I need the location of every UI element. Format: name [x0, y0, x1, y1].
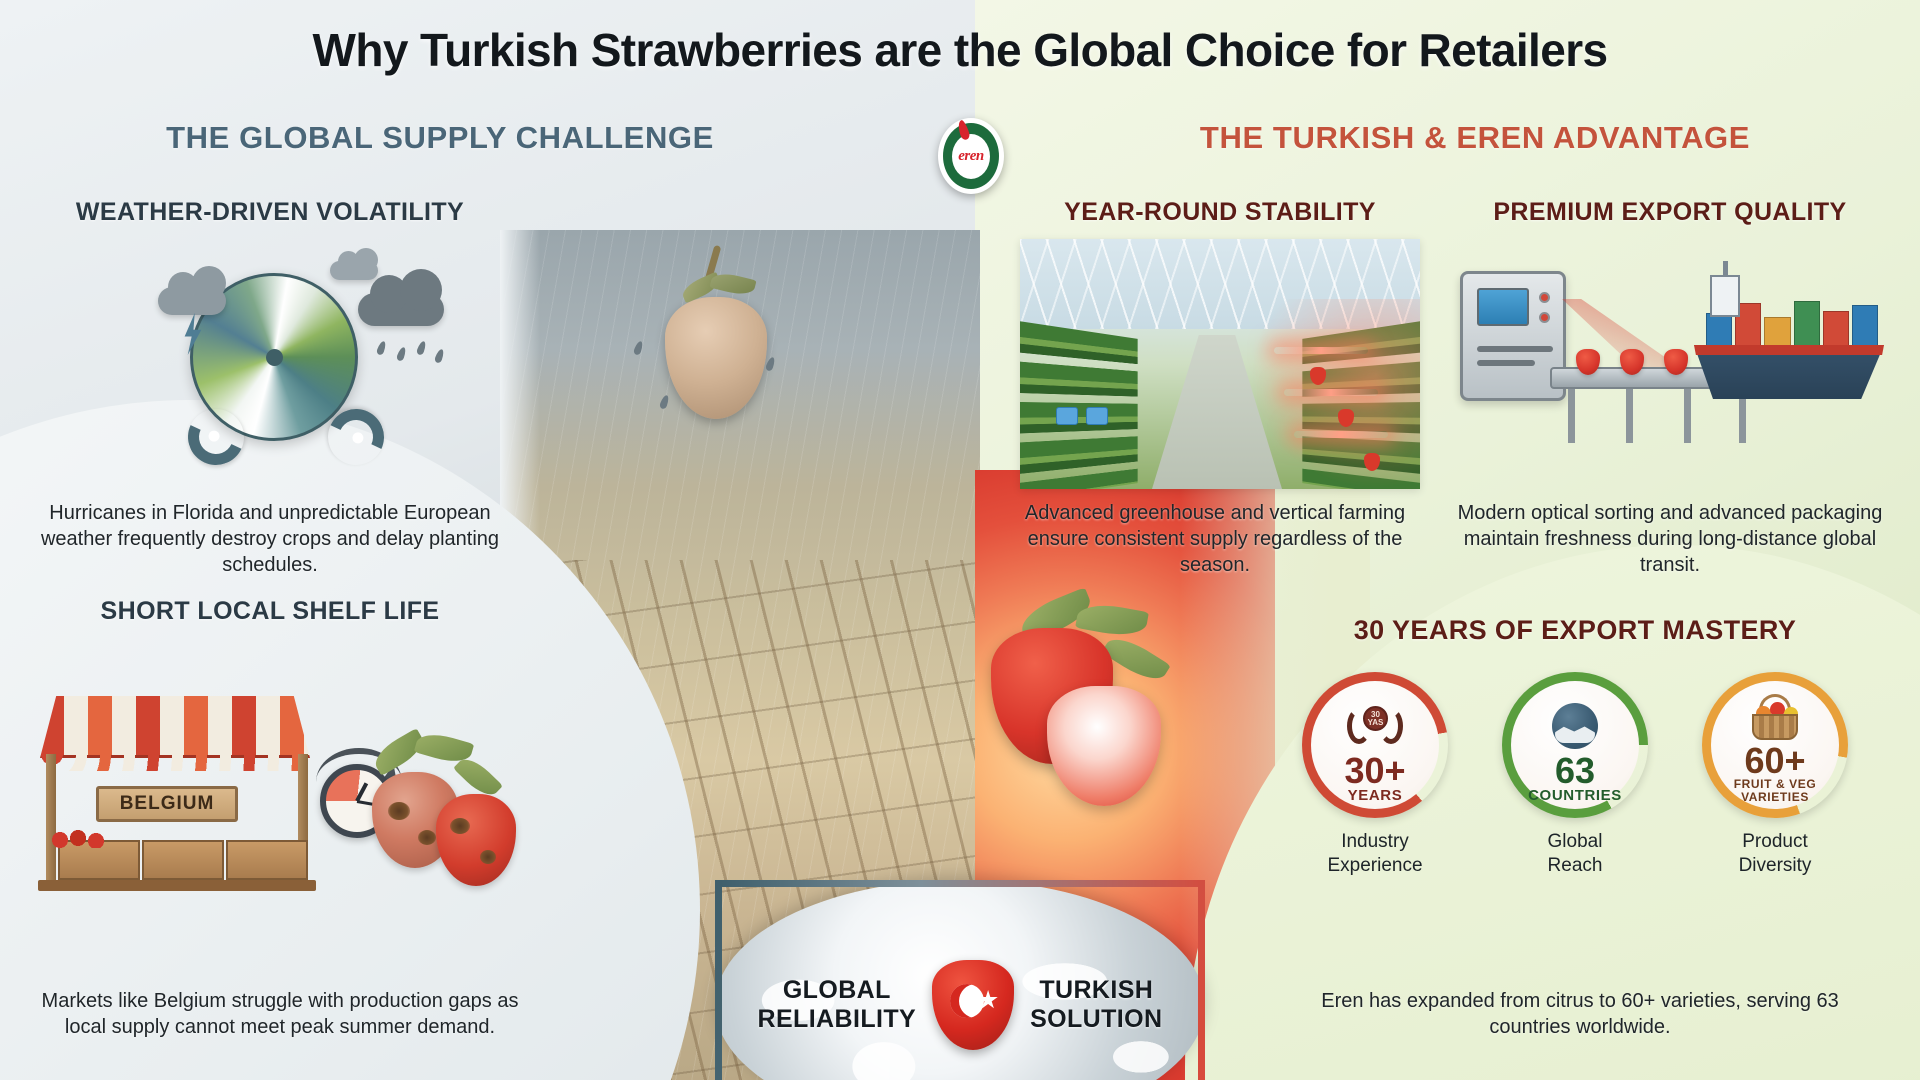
stat-unit-varieties: FRUIT & VEG VARIETIES	[1734, 778, 1817, 804]
logo-wordmark: eren	[958, 148, 984, 165]
rain-drop-icon	[434, 348, 445, 364]
premium-block-body: Modern optical sorting and advanced pack…	[1450, 500, 1890, 578]
stat-caption-years: Industry Experience	[1327, 830, 1422, 878]
ship-bridge-tower	[1710, 275, 1740, 317]
badge-right-line2: SOLUTION	[1030, 1005, 1162, 1034]
laurel-wreath-icon: 30 YAS	[1346, 703, 1404, 749]
stat-varieties: 60+ FRUIT & VEG VARIETIES Product Divers…	[1675, 672, 1875, 878]
rot-spot	[450, 818, 470, 834]
sorter-display-screen	[1477, 288, 1529, 326]
block-short-local-shelf-life: SHORT LOCAL SHELF LIFE BELGIUM	[20, 597, 520, 894]
badge-left-line2: RELIABILITY	[758, 1005, 917, 1034]
stat-value-countries: 63	[1555, 754, 1595, 788]
basket-body	[1752, 714, 1798, 740]
crescent-moon-icon	[950, 984, 984, 1018]
right-column-heading: THE TURKISH & EREN ADVANTAGE	[1035, 120, 1915, 156]
grow-lamp-icon	[1274, 347, 1368, 354]
stat-value-varieties: 60+	[1744, 744, 1805, 778]
sorter-knob	[1539, 312, 1550, 323]
stat-caption-varieties: Product Diversity	[1739, 830, 1812, 878]
shelf-block-body: Markets like Belgium struggle with produ…	[20, 988, 540, 1040]
sorter-knob	[1539, 292, 1550, 303]
stat-circles-row: 30 YAS 30+ YEARS Industry Experience	[1250, 672, 1900, 878]
sorter-slot	[1477, 360, 1535, 366]
shelf-illustration: BELGIUM	[20, 644, 520, 894]
anniversary-badge: 30 YAS	[1363, 706, 1388, 731]
stat-ring-years: 30 YAS 30+ YEARS	[1302, 672, 1448, 818]
stall-crate	[226, 840, 308, 880]
stat-caption-countries: Global Reach	[1548, 830, 1603, 878]
rot-spot	[418, 830, 436, 845]
badge-bottom-text: YAS	[1368, 719, 1384, 727]
small-cloud-icon	[330, 261, 378, 280]
stall-base	[38, 880, 316, 891]
grow-lamp-icon	[1294, 431, 1388, 438]
clock-hour-hand	[355, 782, 368, 802]
turkish-flag-strawberry-icon	[932, 960, 1014, 1050]
stat-caption-line2: Diversity	[1739, 854, 1812, 878]
logo-inner-circle: eren	[952, 134, 990, 179]
global-reliability-badge: GLOBAL RELIABILITY TURKISH SOLUTION	[715, 880, 1205, 1080]
rain-drop-icon	[396, 346, 407, 362]
vertical-farm-rack-icon	[1020, 321, 1138, 489]
premium-illustration	[1450, 241, 1890, 491]
rain-drop-icon	[376, 340, 387, 356]
year-block-title: YEAR-ROUND STABILITY	[1020, 198, 1420, 227]
mastery-summary: Eren has expanded from citrus to 60+ var…	[1280, 988, 1880, 1040]
page-title: Why Turkish Strawberries are the Global …	[313, 23, 1608, 77]
block-premium-export-quality: PREMIUM EXPORT QUALITY	[1450, 198, 1890, 491]
badge-left-line1: GLOBAL	[758, 976, 917, 1005]
stall-crate	[142, 840, 224, 880]
shelf-block-title: SHORT LOCAL SHELF LIFE	[20, 597, 520, 626]
globe-handshake-icon	[1544, 700, 1606, 752]
wilting-strawberry-icon	[655, 245, 775, 420]
sorter-slot	[1477, 346, 1553, 352]
spoiled-strawberry-icon	[436, 794, 516, 886]
rot-spot	[388, 802, 410, 820]
stat-unit-years: YEARS	[1348, 788, 1403, 804]
badge-left-label: GLOBAL RELIABILITY	[758, 976, 917, 1034]
hurricane-eye	[351, 431, 365, 445]
stat-caption-line1: Global	[1548, 830, 1603, 854]
greenhouse-icon	[1020, 239, 1420, 489]
globe-shape	[1552, 703, 1598, 749]
stat-unit-countries: COUNTRIES	[1528, 788, 1622, 804]
crate-strawberries-icon	[50, 830, 110, 848]
eren-logo[interactable]: eren	[938, 118, 1004, 194]
mastery-summary-wrap: Eren has expanded from citrus to 60+ var…	[1280, 988, 1880, 1040]
rain-cloud-icon	[358, 293, 444, 326]
fresh-strawberry-pair-icon	[985, 600, 1215, 820]
block-export-mastery: 30 YEARS OF EXPORT MASTERY 30 YAS	[1250, 615, 1900, 878]
basket-shape	[1746, 692, 1804, 740]
grow-lamp-icon	[1284, 389, 1378, 396]
left-column-heading: THE GLOBAL SUPPLY CHALLENGE	[0, 120, 880, 156]
block-weather-driven-volatility: WEATHER-DRIVEN VOLATILITY	[30, 198, 510, 471]
weather-block-body-wrap: Hurricanes in Florida and unpredictable …	[30, 500, 510, 578]
storm-eye	[266, 349, 283, 366]
stall-post-left	[46, 754, 56, 886]
logo-leaf-icon	[956, 119, 971, 141]
premium-block-title: PREMIUM EXPORT QUALITY	[1450, 198, 1890, 227]
stall-sign: BELGIUM	[96, 786, 238, 822]
stat-caption-line1: Product	[1739, 830, 1812, 854]
stat-value-years: 30+	[1344, 754, 1405, 788]
stat-countries: 63 COUNTRIES Global Reach	[1475, 672, 1675, 878]
stat-caption-line2: Experience	[1327, 854, 1422, 878]
weather-block-title: WEATHER-DRIVEN VOLATILITY	[30, 198, 510, 227]
badge-right-label: TURKISH SOLUTION	[1030, 976, 1162, 1034]
market-stall-awning-icon	[40, 696, 310, 758]
mastery-title: 30 YEARS OF EXPORT MASTERY	[1250, 615, 1900, 646]
thunder-cloud-icon	[158, 287, 226, 315]
year-block-body-wrap: Advanced greenhouse and vertical farming…	[1015, 500, 1415, 578]
stat-caption-line1: Industry	[1327, 830, 1422, 854]
equipment-box-icon	[1086, 407, 1108, 425]
equipment-box-icon	[1056, 407, 1078, 425]
logo-green-ring: eren	[943, 123, 999, 189]
rain-drop-icon	[416, 340, 427, 356]
stat-ring-countries: 63 COUNTRIES	[1502, 672, 1648, 818]
weather-block-body: Hurricanes in Florida and unpredictable …	[30, 500, 510, 578]
fruit-basket-icon	[1744, 690, 1806, 742]
laurel-badge-icon: 30 YAS	[1344, 700, 1406, 752]
ship-hull-stripe	[1694, 345, 1884, 355]
rot-spot	[480, 850, 496, 864]
block-year-round-stability: YEAR-ROUND STABILITY	[1020, 198, 1420, 489]
premium-block-body-wrap: Modern optical sorting and advanced pack…	[1450, 500, 1890, 578]
infographic-canvas: Why Turkish Strawberries are the Global …	[0, 0, 1920, 1080]
hurricane-eye	[207, 429, 221, 443]
badge-right-line1: TURKISH	[1030, 976, 1162, 1005]
stat-caption-line2: Reach	[1548, 854, 1603, 878]
header: Why Turkish Strawberries are the Global …	[0, 0, 1920, 100]
awning-scallop	[40, 754, 310, 771]
weather-illustration	[30, 241, 510, 471]
shelf-block-body-wrap: Markets like Belgium struggle with produ…	[20, 988, 540, 1040]
stat-years: 30 YAS 30+ YEARS Industry Experience	[1275, 672, 1475, 878]
stat-ring-varieties: 60+ FRUIT & VEG VARIETIES	[1702, 672, 1848, 818]
stat-unit-line2: VARIETIES	[1734, 791, 1817, 804]
year-block-body: Advanced greenhouse and vertical farming…	[1015, 500, 1415, 578]
